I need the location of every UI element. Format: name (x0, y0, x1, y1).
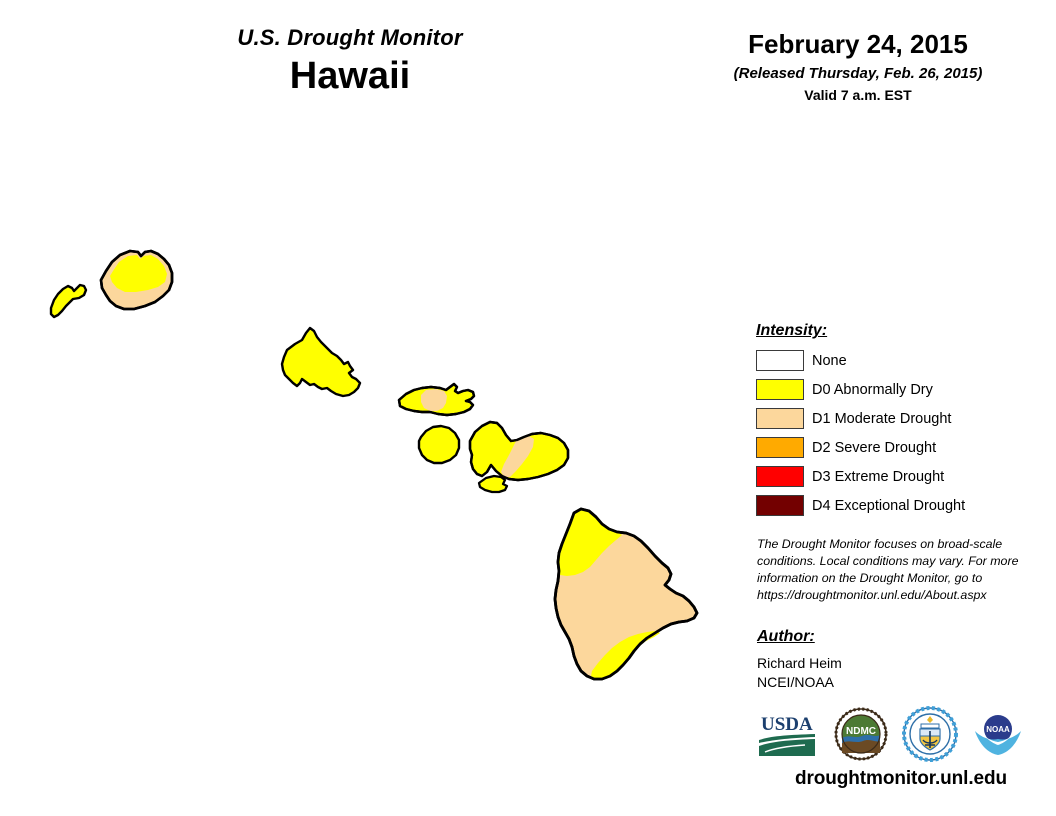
legend-swatch-d4 (756, 495, 804, 516)
legend-item-d4: D4 Exceptional Drought (756, 494, 1046, 517)
noaa-logo-text: NOAA (986, 725, 1010, 734)
disclaimer-text: The Drought Monitor focuses on broad-sca… (757, 536, 1025, 604)
intensity-legend: Intensity: None D0 Abnormally Dry D1 Mod… (756, 322, 1046, 523)
legend-label-d4: D4 Exceptional Drought (812, 498, 965, 514)
island-oahu (282, 328, 360, 396)
legend-label-d0: D0 Abnormally Dry (812, 382, 933, 398)
author-heading: Author: (757, 628, 1027, 646)
author-name: Richard Heim (757, 654, 1027, 673)
lanai-d0-area (419, 426, 459, 463)
legend-swatch-d0 (756, 379, 804, 400)
logo-row: USDA NDMC (757, 706, 1047, 762)
legend-label-d3: D3 Extreme Drought (812, 469, 944, 485)
island-kauai (101, 251, 172, 309)
hawaii-drought-map (0, 0, 760, 816)
island-maui (470, 422, 568, 480)
date-block: February 24, 2015 (Released Thursday, Fe… (660, 30, 1056, 103)
page-title: U.S. Drought Monitor (0, 26, 700, 50)
title-block: U.S. Drought Monitor Hawaii (0, 26, 700, 101)
ndmc-logo-text: NDMC (846, 726, 876, 737)
state-title: Hawaii (0, 53, 700, 101)
island-kahoolawe (479, 476, 507, 492)
disclaimer-link[interactable]: https://droughtmonitor.unl.edu/About.asp… (757, 587, 1025, 604)
legend-label-d2: D2 Severe Drought (812, 440, 936, 456)
island-molokai (399, 384, 474, 415)
unl-seal-logo (903, 707, 957, 761)
legend-item-d3: D3 Extreme Drought (756, 465, 1046, 488)
map-svg (0, 0, 760, 816)
disclaimer-line-1: The Drought Monitor focuses on broad-sca… (757, 536, 1025, 553)
valid-time: Valid 7 a.m. EST (660, 87, 1056, 103)
author-block: Author: Richard Heim NCEI/NOAA (757, 628, 1027, 692)
disclaimer-line-3: information on the Drought Monitor, go t… (757, 570, 1025, 587)
disclaimer-line-2: conditions. Local conditions may vary. F… (757, 553, 1025, 570)
legend-item-d1: D1 Moderate Drought (756, 407, 1046, 430)
usda-logo: USDA (757, 710, 819, 758)
legend-swatch-d2 (756, 437, 804, 458)
legend-label-none: None (812, 353, 847, 369)
legend-swatch-d3 (756, 466, 804, 487)
oahu-d0-area (282, 328, 360, 396)
molokai-d1-area (421, 389, 447, 411)
kahoolawe-d0-area (479, 476, 507, 492)
legend-item-none: None (756, 349, 1046, 372)
niihau-d0-area (51, 285, 86, 317)
legend-swatch-none (756, 350, 804, 371)
valid-date: February 24, 2015 (660, 30, 1056, 60)
site-url[interactable]: droughtmonitor.unl.edu (756, 768, 1046, 790)
author-affiliation: NCEI/NOAA (757, 673, 1027, 692)
usda-logo-text: USDA (761, 714, 813, 735)
legend-label-d1: D1 Moderate Drought (812, 411, 951, 427)
legend-heading: Intensity: (756, 322, 1046, 340)
legend-item-d2: D2 Severe Drought (756, 436, 1046, 459)
noaa-logo: NOAA (973, 709, 1023, 759)
island-hawaii (555, 509, 697, 679)
legend-item-d0: D0 Abnormally Dry (756, 378, 1046, 401)
ndmc-logo: NDMC (835, 708, 887, 760)
island-niihau (51, 285, 86, 317)
legend-swatch-d1 (756, 408, 804, 429)
release-date: (Released Thursday, Feb. 26, 2015) (660, 64, 1056, 84)
island-lanai (419, 426, 459, 463)
